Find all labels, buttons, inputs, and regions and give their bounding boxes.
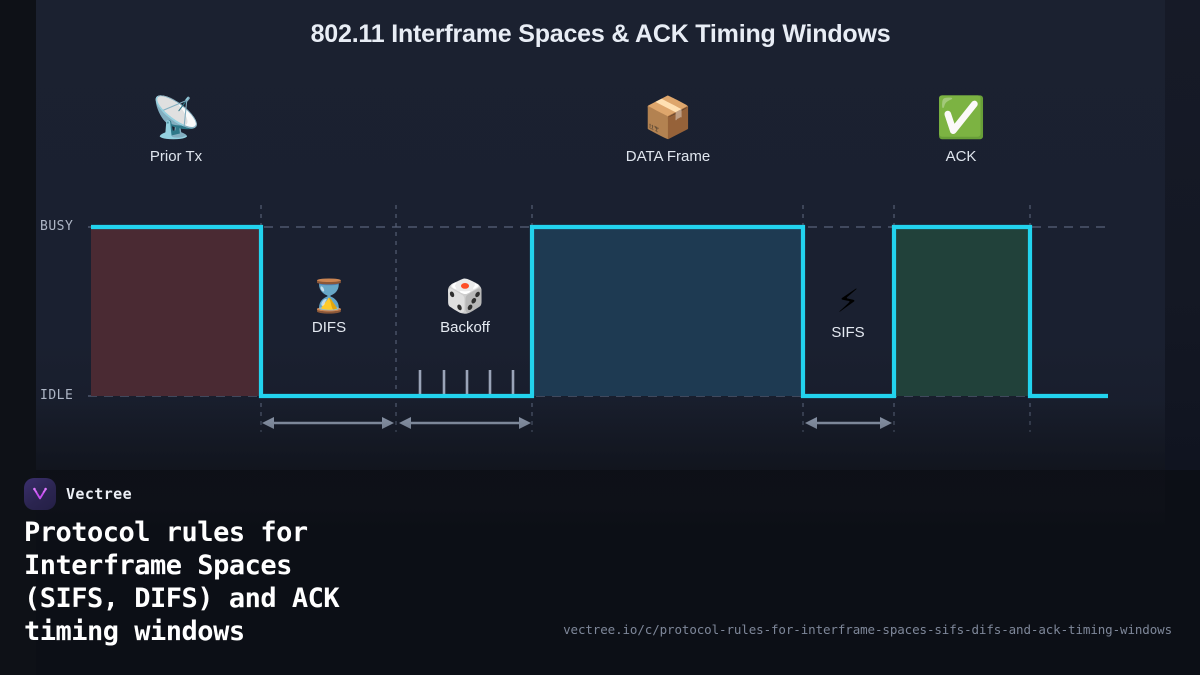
- slide-root: 802.11 Interframe Spaces & ACK Timing Wi…: [0, 0, 1200, 675]
- gap-label-sifs: SIFS: [768, 324, 928, 341]
- block-data-frame: [533, 229, 803, 396]
- arrow-head-difs-left: [262, 417, 274, 429]
- gap-sifs: ⚡ SIFS: [768, 280, 928, 341]
- arrow-head-difs-right: [382, 417, 394, 429]
- gap-label-backoff: Backoff: [385, 319, 545, 336]
- vectree-logo: [24, 478, 56, 510]
- high-voltage-icon: ⚡: [768, 280, 928, 322]
- footer-title: Protocol rules for Interframe Spaces (SI…: [24, 516, 544, 648]
- game-die-icon: 🎲: [385, 275, 545, 317]
- vectree-logo-glyph: [30, 484, 50, 504]
- timing-diagram: [0, 0, 1200, 470]
- block-prior-tx: [91, 229, 261, 396]
- duration-arrows: [262, 417, 892, 429]
- arrow-head-sifs-left: [805, 417, 817, 429]
- backoff-slot-ticks: [420, 370, 513, 394]
- arrow-head-sifs-right: [880, 417, 892, 429]
- brand-row[interactable]: Vectree: [24, 478, 132, 510]
- brand-name: Vectree: [66, 485, 132, 503]
- arrow-head-backoff-left: [399, 417, 411, 429]
- gap-backoff: 🎲 Backoff: [385, 275, 545, 336]
- footer-url: vectree.io/c/protocol-rules-for-interfra…: [563, 622, 1172, 637]
- arrow-head-backoff-right: [519, 417, 531, 429]
